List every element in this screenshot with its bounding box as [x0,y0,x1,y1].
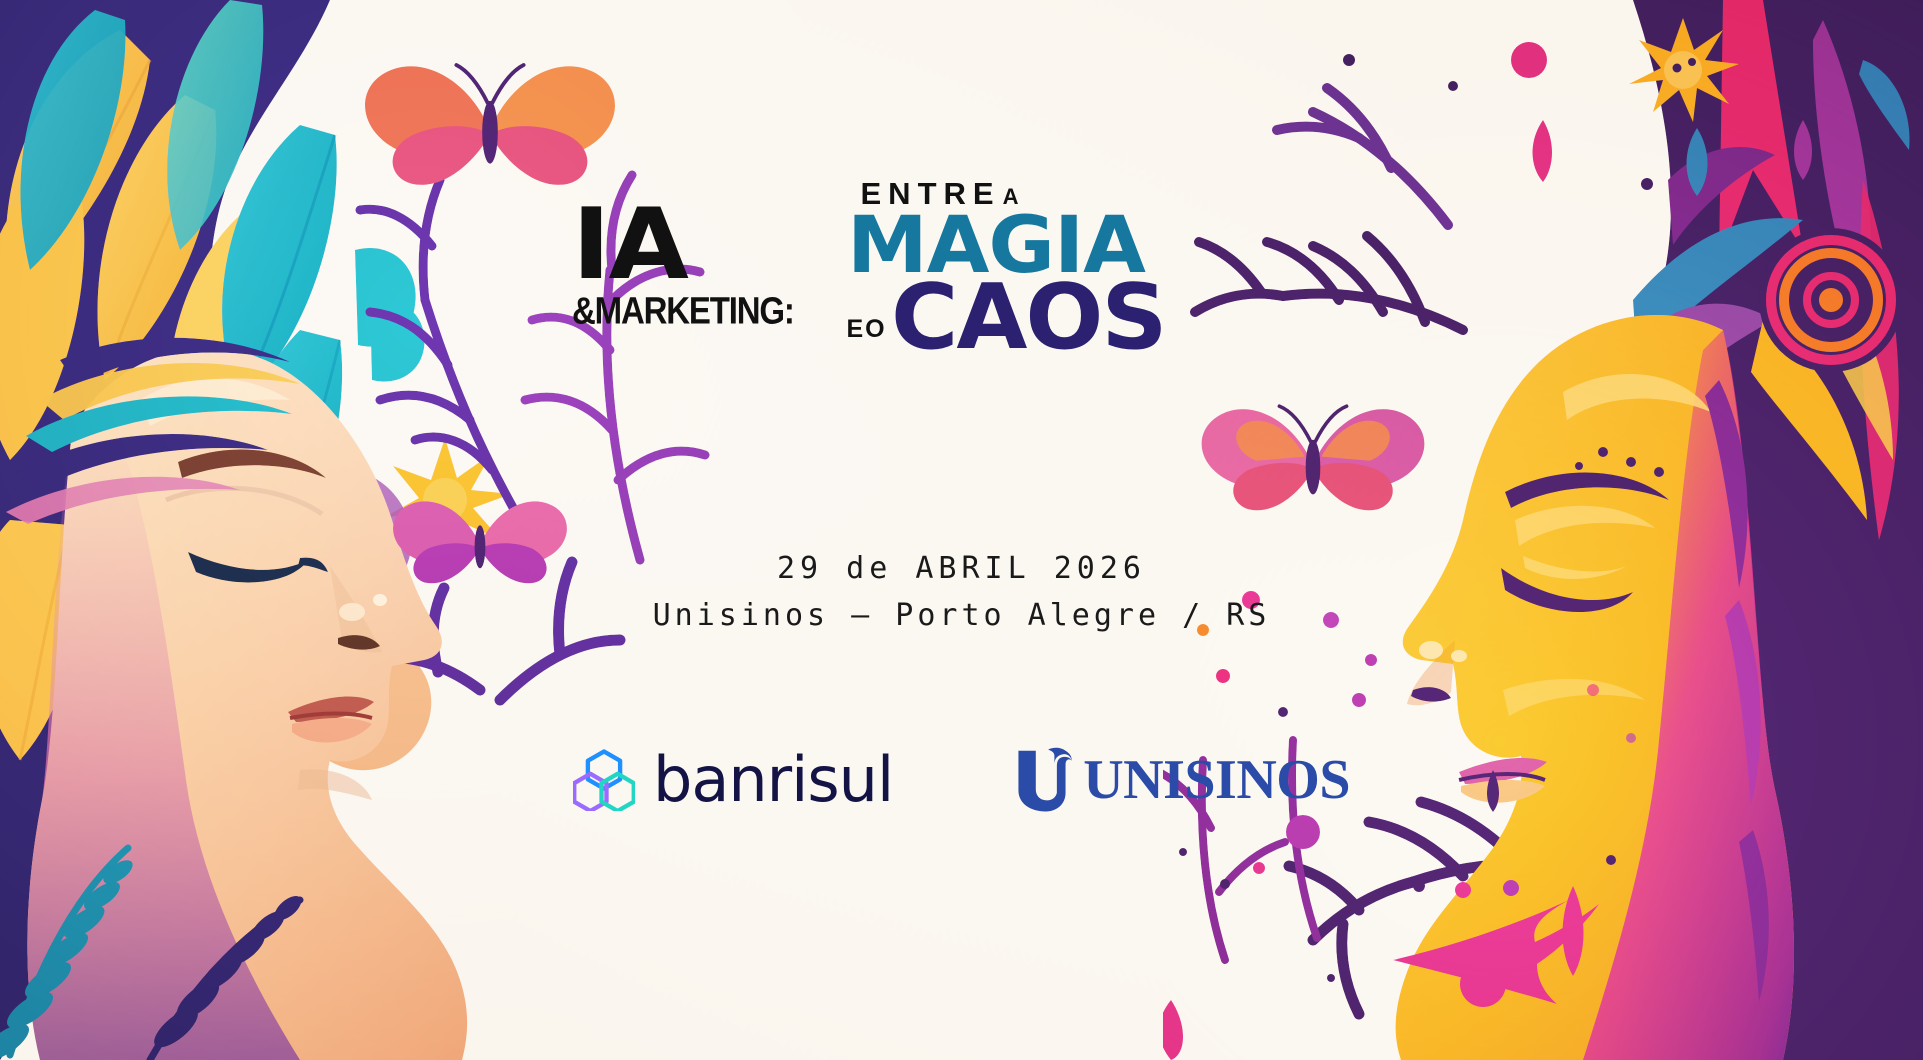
headline-kicker-eo: EO [847,317,887,358]
unisinos-u-icon [1011,747,1073,813]
headline-topic-sub: &MARKETING: [572,292,794,330]
event-details: 29 de ABRIL 2026 Unisinos — Porto Alegre… [653,546,1271,639]
banrisul-hexagons-icon [573,749,635,811]
poster-canvas: IA &MARKETING: ENTRE A MAGIA EO CAOS 29 … [0,0,1923,1060]
headline-topic-block: IA &MARKETING: [572,203,801,326]
headline-theme-block: ENTRE A MAGIA EO CAOS [847,178,1160,358]
headline-word-caos: CAOS [891,277,1165,358]
unisinos-wordmark: UNISINOS [1083,752,1350,808]
headline-topic: IA [572,203,814,287]
headline-row-caos: EO CAOS [847,277,1160,358]
sponsor-logo-unisinos[interactable]: UNISINOS [1011,747,1350,813]
headline-lockup: IA &MARKETING: ENTRE A MAGIA EO CAOS [572,178,1352,428]
banrisul-wordmark: banrisul [653,749,893,811]
poster-center-content: IA &MARKETING: ENTRE A MAGIA EO CAOS 29 … [572,0,1352,1060]
sponsor-logos: banrisul UNISINOS [573,747,1350,813]
event-date: 29 de ABRIL 2026 [653,546,1271,593]
sponsor-logo-banrisul[interactable]: banrisul [573,749,893,811]
event-venue: Unisinos — Porto Alegre / RS [653,593,1271,640]
